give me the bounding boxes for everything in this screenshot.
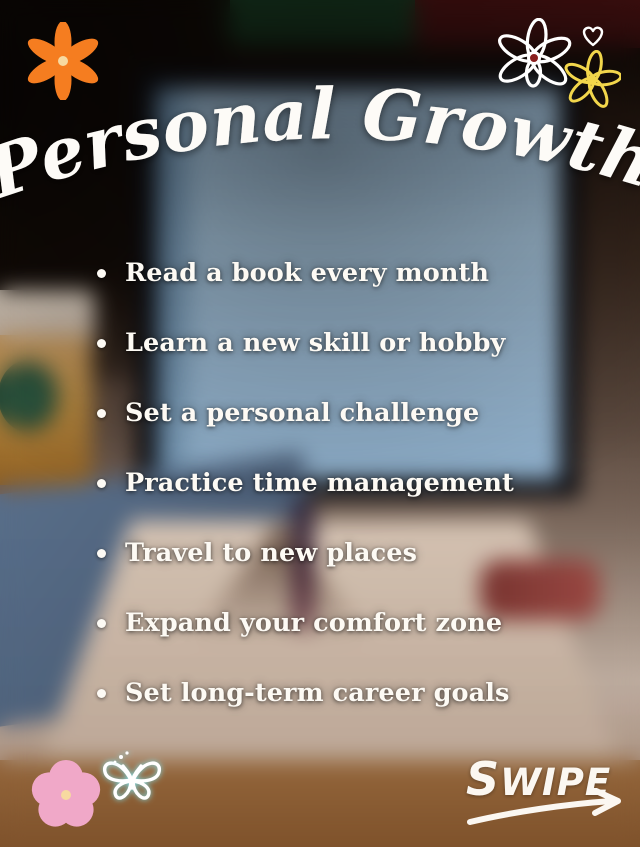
bullet-icon <box>97 479 106 488</box>
list-item: Learn a new skill or hobby <box>0 308 640 378</box>
list-item: Expand your comfort zone <box>0 588 640 658</box>
list-item: Practice time management <box>0 448 640 518</box>
list-item: Set a personal challenge <box>0 378 640 448</box>
list-item-label: Travel to new places <box>125 538 417 568</box>
flower-white-outline-sticker <box>495 18 573 101</box>
bullet-icon <box>97 689 106 698</box>
flower-pink-sticker <box>28 757 104 838</box>
list-item-label: Expand your comfort zone <box>125 608 502 638</box>
butterfly-sticker <box>96 750 168 811</box>
swipe-arrow-icon <box>462 788 627 830</box>
goals-list: Read a book every month Learn a new skil… <box>0 238 640 728</box>
list-item-label: Practice time management <box>125 468 514 498</box>
poster-canvas: Personal Growth Read a book every month … <box>0 0 640 847</box>
list-item-label: Set a personal challenge <box>125 398 479 428</box>
heart-white-sticker <box>580 24 606 53</box>
list-item: Travel to new places <box>0 518 640 588</box>
list-item-label: Set long-term career goals <box>125 678 510 708</box>
bullet-icon <box>97 409 106 418</box>
list-item: Set long-term career goals <box>0 658 640 728</box>
flower-orange-sticker <box>25 22 101 105</box>
bullet-icon <box>97 549 106 558</box>
bullet-icon <box>97 619 106 628</box>
list-item-label: Learn a new skill or hobby <box>125 328 505 358</box>
bullet-icon <box>97 339 106 348</box>
swipe-cta[interactable]: SWIPE <box>462 752 627 830</box>
list-item-label: Read a book every month <box>125 258 489 288</box>
bullet-icon <box>97 269 106 278</box>
list-item: Read a book every month <box>0 238 640 308</box>
flower-yellow-sticker <box>563 50 621 113</box>
